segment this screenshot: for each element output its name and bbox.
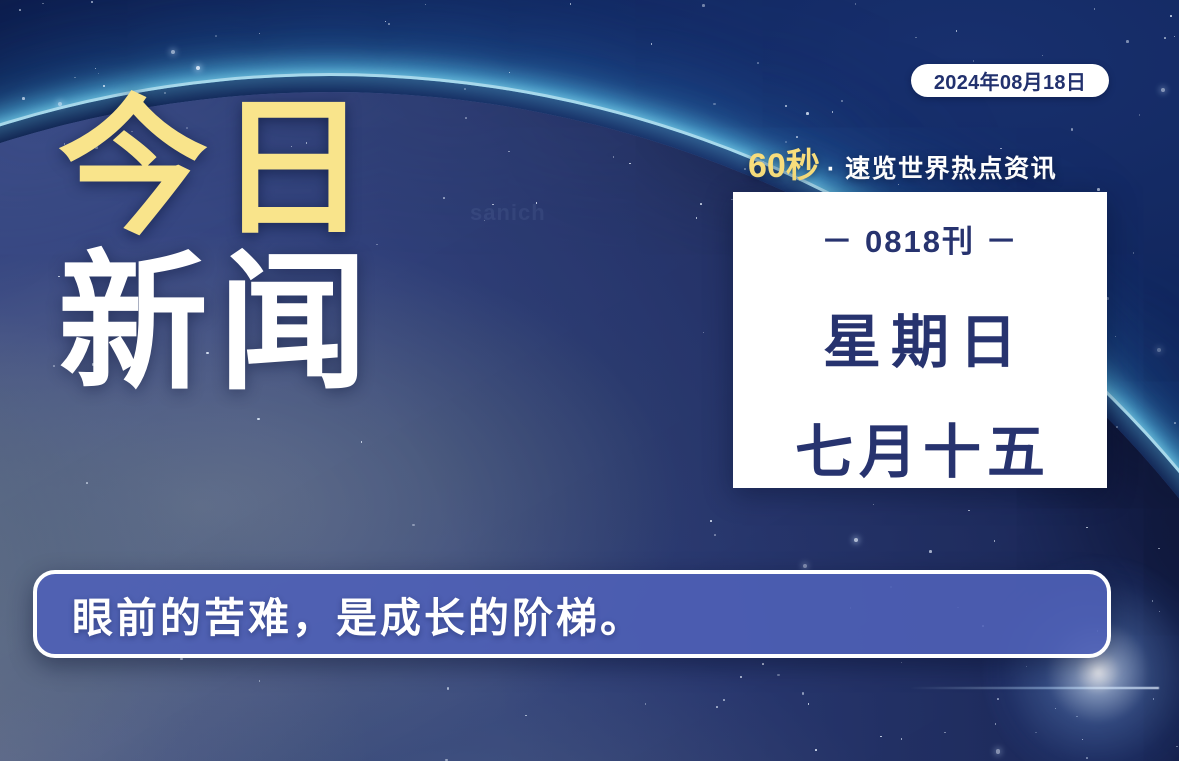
issue-number: － 0818刊 － (821, 216, 1018, 261)
content-layer: 今日 新闻 2024年08月18日 60秒 · 速览世界热点资讯 － 0818刊… (0, 0, 1179, 761)
brand-title: 今日 新闻 (58, 96, 378, 398)
tagline: 60秒 · 速览世界热点资讯 (748, 138, 1057, 187)
brand-title-line-2: 新闻 (58, 251, 378, 398)
news-poster: sanich 今日 新闻 2024年08月18日 60秒 · 速览世界热点资讯 … (0, 0, 1179, 761)
tagline-seconds: 60秒 (748, 138, 820, 187)
weekday-label: 星期日 (813, 295, 1027, 379)
brand-title-line-1: 今日 (58, 96, 378, 243)
date-info-card: － 0818刊 － 星期日 七月十五 (733, 192, 1107, 488)
lunar-date-label: 七月十五 (789, 405, 1051, 489)
date-badge: 2024年08月18日 (911, 64, 1109, 97)
quote-banner: 眼前的苦难，是成长的阶梯。 (33, 570, 1111, 658)
quote-text: 眼前的苦难，是成长的阶梯。 (72, 584, 644, 644)
tagline-description: · 速览世界热点资讯 (827, 149, 1057, 185)
